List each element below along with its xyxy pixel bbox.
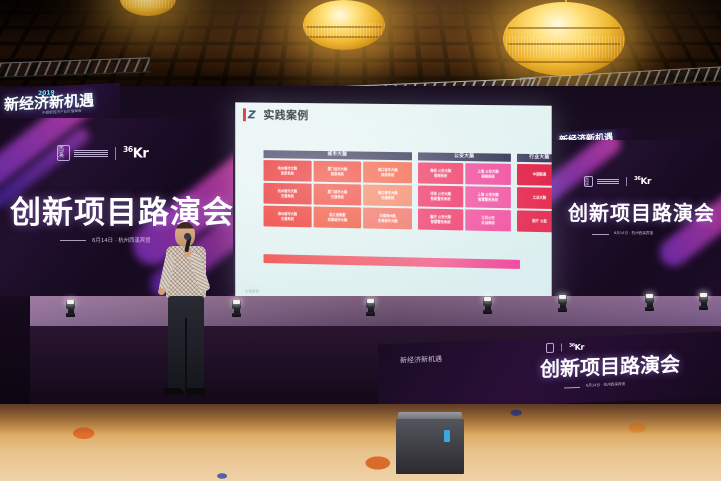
kr-logo: 36Kr xyxy=(123,145,148,161)
moving-head-light xyxy=(699,293,708,310)
case-cell: 工业大脑 xyxy=(517,187,552,209)
kr-logo: 36Kr xyxy=(569,342,584,352)
kr-logo-main: Kr xyxy=(133,146,149,161)
kr-logo: 36Kr xyxy=(634,176,651,187)
case-group-header: 城市大脑 xyxy=(264,150,412,160)
stage-deck-top xyxy=(0,296,721,330)
light-base xyxy=(366,312,375,316)
left-banner-logo-row: 西溪 36Kr xyxy=(57,145,148,161)
slide-title: 实践案例 xyxy=(264,107,309,123)
case-cell-grid: 海南 公安大脑视频系统上海 公安大脑视频系统河南 公安大脑智能警务系统上海 公安… xyxy=(418,162,511,231)
moving-head-light xyxy=(645,294,654,311)
right-led-banner: 西溪 36Kr 创新项目路演会 6月14日 · 杭州西溪宾馆 xyxy=(550,140,721,300)
carpet-shading xyxy=(0,404,721,481)
light-lens xyxy=(484,297,491,301)
partner-logo-caption xyxy=(74,150,108,157)
partner-logo-caption xyxy=(597,179,619,184)
chandelier-band xyxy=(306,36,381,38)
kr-logo-main: Kr xyxy=(640,177,651,187)
projection-screen: Z 实践案例 城市大脑杭州城市大脑旅游系统厦门城市大脑旅游系统海口城市大脑旅游系… xyxy=(235,102,551,305)
case-cell: 杭州城市大脑旅游系统 xyxy=(264,160,312,182)
logo-divider xyxy=(626,177,627,186)
right-banner-date: 6月14日 · 杭州西溪宾馆 xyxy=(614,231,653,236)
light-base xyxy=(483,310,492,314)
moving-head-light xyxy=(66,300,75,317)
case-cell: 厦门城市大脑旅游系统 xyxy=(313,161,361,183)
case-group: 公安大脑海南 公安大脑视频系统上海 公安大脑视频系统河南 公安大脑智能警务系统上… xyxy=(418,152,511,231)
xixi-hotel-logo-icon: 西溪 xyxy=(584,176,593,187)
case-cell: 杭州城市大脑交通系统 xyxy=(264,183,312,205)
partner-logo: 西溪 xyxy=(584,176,619,187)
stage-left-wing xyxy=(0,296,30,414)
case-group-header: 行业大脑 xyxy=(517,154,552,163)
logo-glyph: Z xyxy=(248,109,256,120)
right-banner-logo-row: 西溪 36Kr xyxy=(584,176,651,187)
presenter-left-shoe xyxy=(164,388,183,395)
light-lens xyxy=(646,294,653,298)
moving-head-light xyxy=(366,299,375,316)
slide-header: Z 实践案例 xyxy=(243,106,309,123)
case-group: 城市大脑杭州城市大脑旅游系统厦门城市大脑旅游系统海口城市大脑旅游系统杭州城市大脑… xyxy=(264,150,412,229)
light-base xyxy=(558,308,567,312)
stage-deck-sheen xyxy=(0,296,721,330)
chandelier-band xyxy=(508,43,620,45)
case-cell: 厦门城市大脑交通系统 xyxy=(313,184,361,206)
logo-divider xyxy=(115,147,116,160)
kr-logo-sup: 36 xyxy=(123,145,133,154)
light-base xyxy=(66,313,75,317)
apron-title: 创新项目路演会 xyxy=(540,353,680,380)
slide-case-grid: 城市大脑杭州城市大脑旅游系统厦门城市大脑旅游系统海口城市大脑旅游系统杭州城市大脑… xyxy=(264,150,544,154)
case-cell: 中国联通 xyxy=(517,164,552,186)
case-cell: 海口城市大脑旅游系统 xyxy=(363,162,412,184)
partner-logo: 西溪 xyxy=(57,145,108,161)
case-cell: 海南 公安大脑视频系统 xyxy=(418,162,463,184)
light-lens xyxy=(559,295,566,299)
stage-monitor-wedge xyxy=(396,412,464,474)
stage-apron-led-panel: 新经济新机遇 36Kr 创新项目路演会 6月14日 · 杭州西溪宾馆 xyxy=(378,331,721,410)
light-base xyxy=(699,306,708,310)
apron-date: 6月14日 · 杭州西溪宾馆 xyxy=(586,382,625,389)
case-cell: 海口城市大脑交通系统 xyxy=(363,185,412,207)
wedge-grille xyxy=(396,419,464,474)
wedge-badge xyxy=(444,430,450,442)
kr-logo-main: Kr xyxy=(575,342,584,351)
apron-strip-title: 新经济新机遇 xyxy=(400,354,442,366)
case-group: 行业大脑中国联通工业大脑医疗 公益 xyxy=(517,154,552,233)
moving-head-light xyxy=(483,297,492,314)
microphone-capsule xyxy=(184,233,191,240)
case-cell: 河南 公安大脑智能警务系统 xyxy=(418,185,463,207)
case-cell: 漳州城市大脑交通系统 xyxy=(264,206,312,228)
light-lens xyxy=(233,300,240,304)
moving-head-light xyxy=(558,295,567,312)
case-cell: 重庆 公安大脑智慧警务系统 xyxy=(418,208,463,230)
chandelier-center xyxy=(503,2,625,76)
case-cell: 上海 公安大脑智慧警务系统 xyxy=(465,186,511,208)
case-cell: 上海 公安大脑视频系统 xyxy=(465,163,511,185)
light-base xyxy=(232,313,241,317)
top-strip-subtitle: 中国新经济产业价值峰会 xyxy=(42,109,82,116)
light-base xyxy=(645,307,654,311)
presenter xyxy=(150,222,230,400)
chandelier-band xyxy=(508,27,620,29)
apron-logo-row: 36Kr xyxy=(546,342,584,353)
logo-divider xyxy=(561,344,562,352)
slide-surface: Z 实践案例 城市大脑杭州城市大脑旅游系统厦门城市大脑旅游系统海口城市大脑旅游系… xyxy=(235,102,551,305)
light-lens xyxy=(67,300,74,304)
case-cell: 河南郑州航空港城市大脑 xyxy=(363,207,412,229)
light-lens xyxy=(700,293,707,297)
xixi-hotel-logo-icon: 西溪 xyxy=(57,145,70,161)
right-banner-title: 创新项目路演会 xyxy=(568,202,715,224)
case-cell-grid: 中国联通工业大脑医疗 公益 xyxy=(517,164,552,233)
xixi-hotel-logo-icon xyxy=(546,343,554,353)
venue-carpet xyxy=(0,404,721,481)
right-banner-rule xyxy=(592,234,609,235)
slide-bottom-bar xyxy=(264,254,521,269)
presenter-right-shoe xyxy=(186,388,206,395)
chandelier-left xyxy=(303,0,385,50)
apron-rule xyxy=(564,387,580,389)
presenter-left-hand xyxy=(158,288,165,295)
moving-head-light xyxy=(232,300,241,317)
presenter-company-logo-icon: Z xyxy=(243,108,258,121)
slide-footer-left: 实践案例 xyxy=(245,288,259,293)
chandelier-band xyxy=(306,26,381,28)
light-lens xyxy=(367,299,374,303)
left-banner-date: 6月14日 · 杭州西溪宾馆 xyxy=(92,236,151,244)
logo-red-bar xyxy=(243,108,246,121)
case-cell: 医疗 公益 xyxy=(517,210,552,232)
left-banner-rule xyxy=(60,240,86,241)
chandelier-band xyxy=(508,61,620,63)
case-cell-grid: 杭州城市大脑旅游系统厦门城市大脑旅游系统海口城市大脑旅游系统杭州城市大脑交通系统… xyxy=(264,160,412,229)
case-cell: 浙江省数据资源城市大脑 xyxy=(313,207,361,229)
trouser-seam xyxy=(185,318,187,392)
case-cell: 江苏公安实战系统 xyxy=(465,209,511,231)
case-group-header: 公安大脑 xyxy=(418,152,511,161)
conference-stage-scene: 2019 新经济新机遇 中国新经济产业价值峰会 新经济新机遇 西溪 36Kr 创… xyxy=(0,0,721,481)
